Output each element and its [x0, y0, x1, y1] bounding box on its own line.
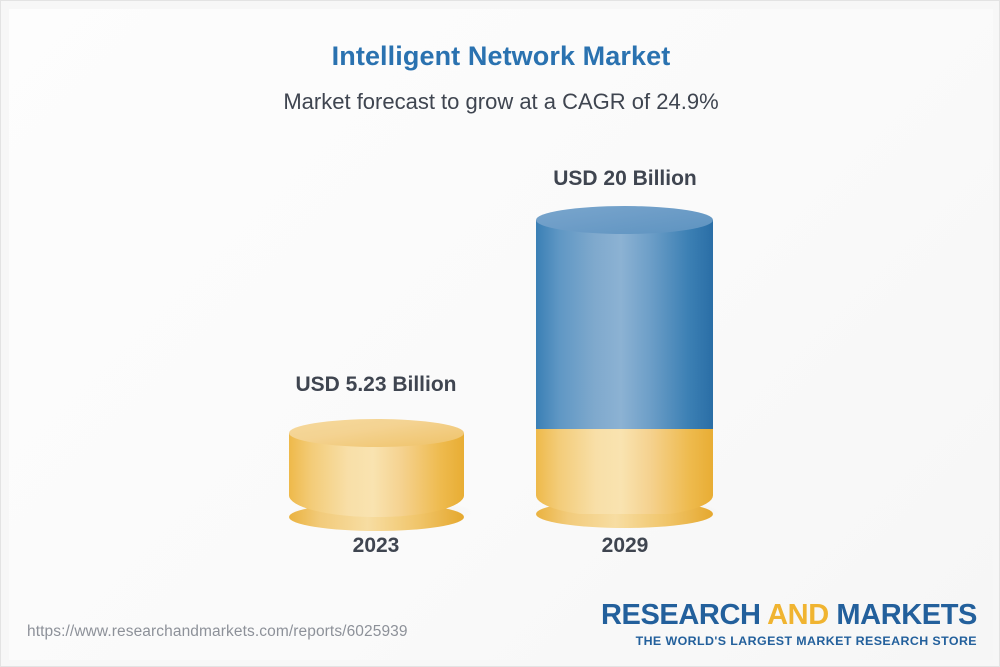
bar-body-2029 [536, 206, 713, 517]
bar-year-label-2029: 2029 [535, 534, 715, 558]
bar-segment-yellow-2029 [536, 429, 713, 514]
page-title: Intelligent Network Market [1, 41, 1000, 72]
page-subtitle: Market forecast to grow at a CAGR of 24.… [1, 89, 1000, 115]
bar-cylinder-2023[interactable] [289, 419, 464, 517]
research-and-markets-logo[interactable]: RESEARCH AND MARKETS THE WORLD'S LARGEST… [601, 601, 977, 647]
logo-word-markets: MARKETS [829, 599, 977, 631]
bar-value-label-2023: USD 5.23 Billion [276, 373, 476, 397]
source-url[interactable]: https://www.researchandmarkets.com/repor… [27, 623, 408, 641]
bar-top-cap-2029 [536, 206, 713, 234]
logo-wordmark: RESEARCH AND MARKETS [601, 601, 977, 630]
bar-value-label-2029: USD 20 Billion [525, 167, 725, 191]
bar-year-label-2023: 2023 [286, 534, 466, 558]
logo-word-and: AND [767, 599, 829, 631]
logo-word-research: RESEARCH [601, 599, 767, 631]
bar-top-cap-2023 [289, 419, 464, 447]
bar-segment-blue-2029 [536, 220, 713, 429]
bar-bottom-cap-2023 [289, 503, 464, 531]
infographic-card: Intelligent Network Market Market foreca… [0, 0, 1000, 667]
logo-tagline: THE WORLD'S LARGEST MARKET RESEARCH STOR… [601, 635, 977, 647]
bar-cylinder-2029[interactable] [536, 206, 713, 517]
